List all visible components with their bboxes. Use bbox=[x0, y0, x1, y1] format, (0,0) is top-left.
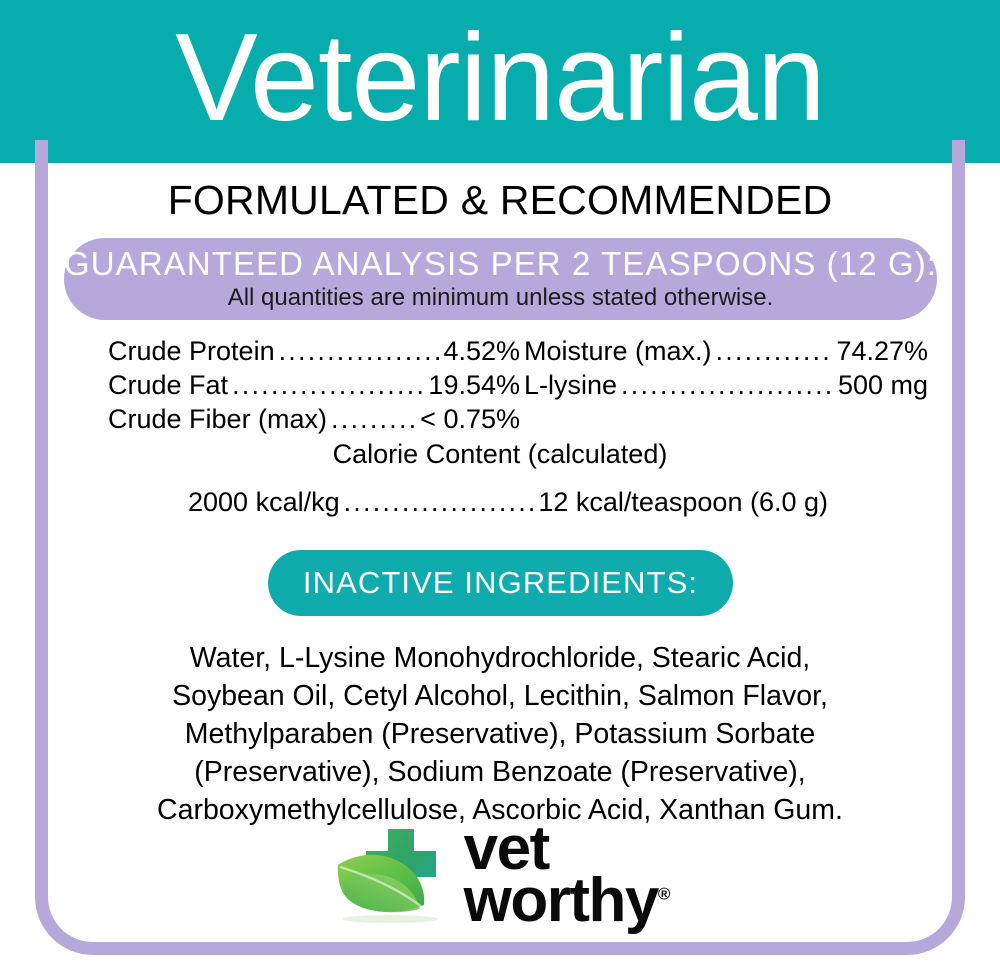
ingredient-line: Methylparaben (Preservative), Potassium … bbox=[48, 716, 952, 754]
inactive-ingredients-list: Water, L-Lysine Monohydrochloride, Stear… bbox=[48, 640, 952, 829]
analysis-label: Crude Protein bbox=[108, 335, 275, 369]
dot-leader: .......... bbox=[331, 403, 416, 437]
analysis-right-column: Moisture (max.) ............. 74.27% L-l… bbox=[524, 335, 928, 436]
ingredient-line: Soybean Oil, Cetyl Alcohol, Lecithin, Sa… bbox=[48, 678, 952, 716]
analysis-value: 500 mg bbox=[838, 369, 928, 403]
analysis-label: L-lysine bbox=[524, 369, 617, 403]
vet-worthy-leaf-cross-icon bbox=[330, 823, 458, 927]
analysis-label: Moisture (max.) bbox=[524, 335, 712, 369]
analysis-label: Crude Fiber (max) bbox=[108, 403, 327, 437]
inactive-ingredients-banner: INACTIVE INGREDIENTS: bbox=[268, 550, 733, 616]
analysis-row: L-lysine ............................ 50… bbox=[524, 369, 928, 403]
page-title: Veterinarian bbox=[175, 16, 825, 140]
calorie-label: 2000 kcal/kg bbox=[188, 487, 340, 518]
registered-trademark-icon: ® bbox=[658, 884, 671, 903]
guaranteed-analysis-banner: GUARANTEED ANALYSIS PER 2 TEASPOONS (12 … bbox=[64, 238, 937, 320]
label-content: FORMULATED & RECOMMENDED GUARANTEED ANAL… bbox=[48, 163, 952, 955]
ingredient-line: Water, L-Lysine Monohydrochloride, Stear… bbox=[48, 640, 952, 678]
analysis-row: Crude Protein .................... 4.52% bbox=[108, 335, 520, 369]
guaranteed-analysis-title: GUARANTEED ANALYSIS PER 2 TEASPOONS (12 … bbox=[64, 246, 937, 282]
analysis-row: Crude Fat ........................... 19… bbox=[108, 369, 520, 403]
product-label: Veterinarian FORMULATED & RECOMMENDED GU… bbox=[0, 0, 1000, 962]
analysis-row: Crude Fiber (max) .......... < 0.75% bbox=[108, 403, 520, 437]
guaranteed-analysis-table: Crude Protein .................... 4.52%… bbox=[48, 335, 952, 436]
analysis-row: Moisture (max.) ............. 74.27% bbox=[524, 335, 928, 369]
header-band: Veterinarian bbox=[0, 0, 1000, 163]
logo-wordmark: vet worthy® bbox=[464, 823, 671, 927]
dot-leader: ............................ bbox=[621, 369, 834, 403]
dot-leader: ........................ bbox=[344, 487, 535, 518]
logo-word-worthy: worthy bbox=[464, 866, 658, 935]
analysis-value: < 0.75% bbox=[420, 403, 520, 437]
calorie-content-title: Calorie Content (calculated) bbox=[48, 439, 952, 470]
analysis-label: Crude Fat bbox=[108, 369, 228, 403]
frame-top-mask bbox=[20, 140, 980, 164]
logo-word-worthy-wrap: worthy® bbox=[464, 875, 671, 927]
dot-leader: ............. bbox=[716, 335, 833, 369]
inactive-ingredients-title: INACTIVE INGREDIENTS: bbox=[303, 565, 698, 601]
dot-leader: .................... bbox=[279, 335, 440, 369]
analysis-value: 4.52% bbox=[443, 335, 520, 369]
calorie-value: 12 kcal/teaspoon (6.0 g) bbox=[538, 487, 828, 518]
formulated-subheading: FORMULATED & RECOMMENDED bbox=[48, 179, 952, 222]
calorie-content-row: 2000 kcal/kg ........................ 12… bbox=[188, 487, 828, 518]
analysis-left-column: Crude Protein .................... 4.52%… bbox=[108, 335, 520, 436]
analysis-value: 19.54% bbox=[428, 369, 520, 403]
guaranteed-analysis-subtitle: All quantities are minimum unless stated… bbox=[228, 284, 774, 312]
analysis-value: 74.27% bbox=[836, 335, 928, 369]
ingredient-line: (Preservative), Sodium Benzoate (Preserv… bbox=[48, 754, 952, 792]
brand-logo: vet worthy® bbox=[48, 823, 952, 927]
dot-leader: ........................... bbox=[232, 369, 424, 403]
